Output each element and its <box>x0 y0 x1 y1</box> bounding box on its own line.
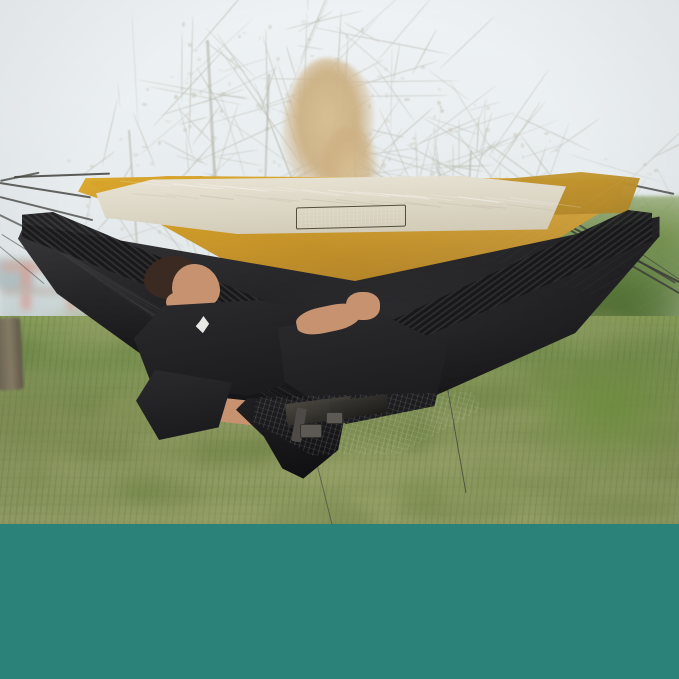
hammock-rib <box>545 185 679 280</box>
hammock-rig <box>0 0 679 524</box>
hammock-rib <box>590 202 679 295</box>
person-sleeve <box>136 370 232 440</box>
hammock-product-photo <box>0 0 679 524</box>
person-right-hand <box>346 292 380 320</box>
gear-buckle <box>326 412 343 424</box>
hammock-rib <box>581 229 673 292</box>
product-image-card: BOTTOM HAMMOCK STORAGE -- A VERSATILE AD… <box>0 0 679 679</box>
hammock-rib <box>392 125 571 227</box>
hammock-rib <box>410 155 518 233</box>
promo-banner: BOTTOM HAMMOCK STORAGE -- A VERSATILE AD… <box>0 524 679 679</box>
gear-buckle <box>300 424 322 438</box>
